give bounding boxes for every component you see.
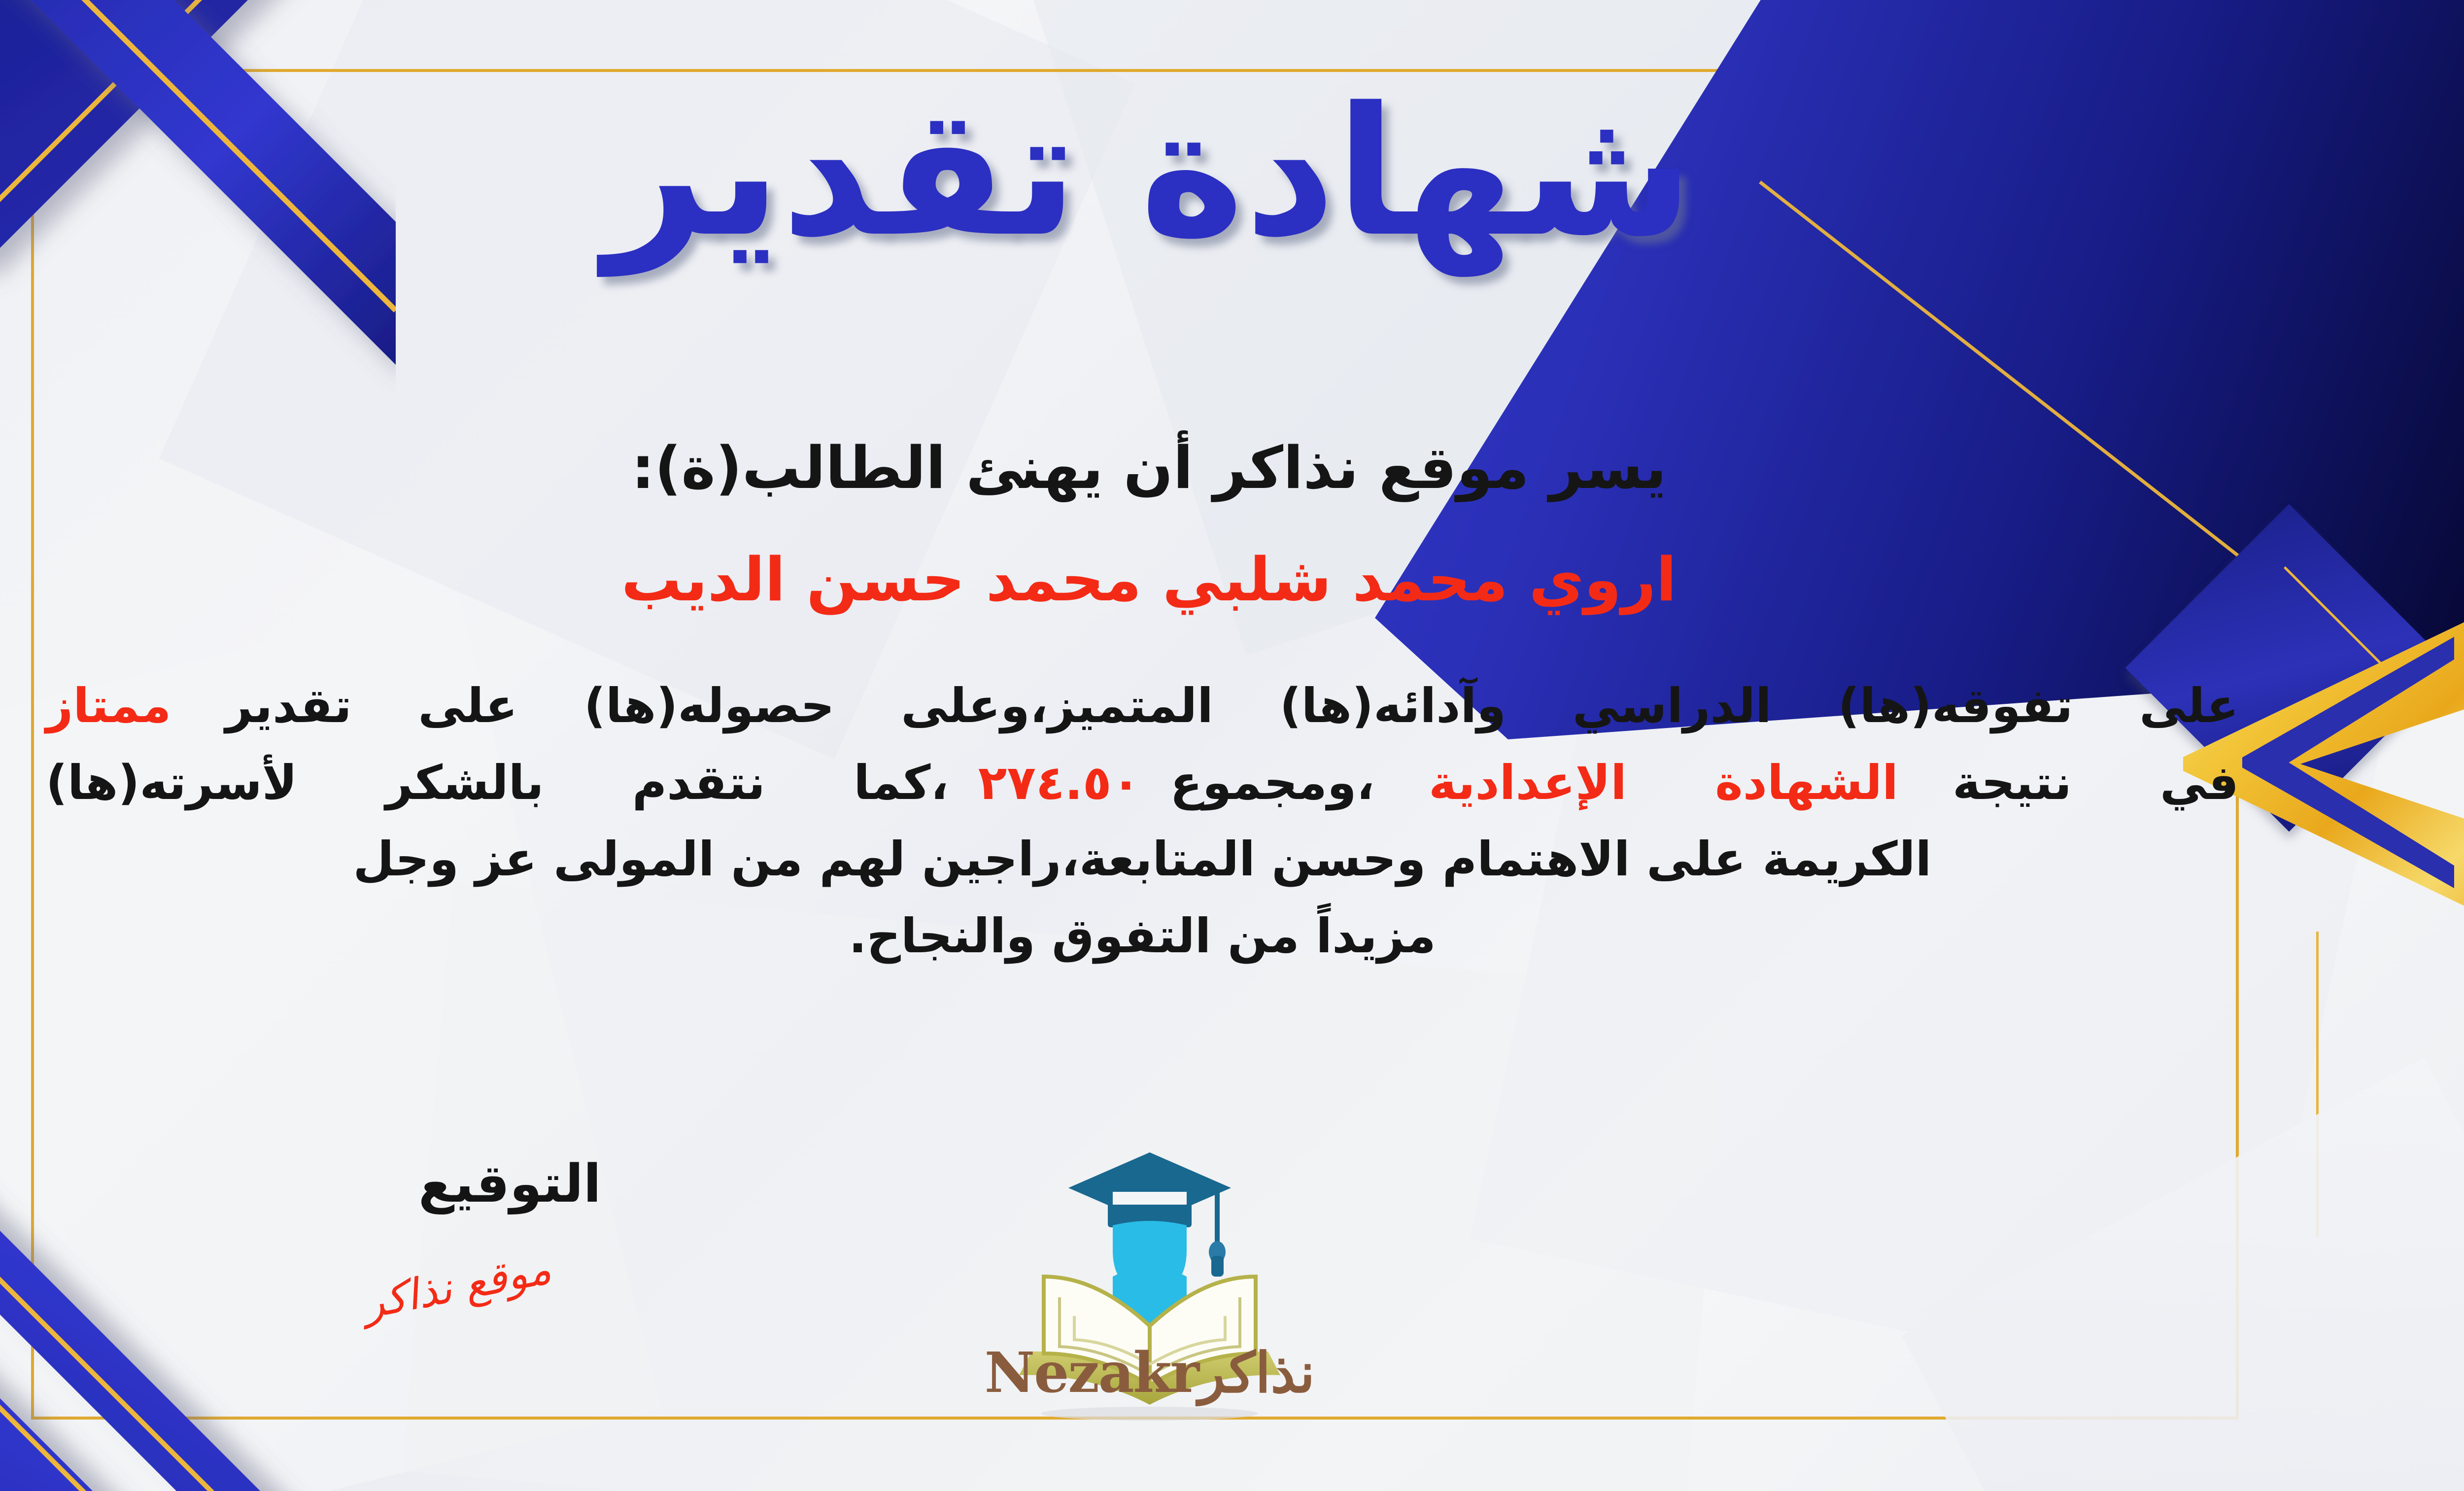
logo-wordmark: نذاكرNezakr [945, 1341, 1354, 1405]
page-title: شهادة تقدير [0, 84, 2464, 261]
body-line-4: في نتيجةالشهادة الإعدادية،ومجموع٢٧٤.٥٠،ك… [46, 745, 2239, 822]
total-score: ٢٧٤.٥٠ [978, 755, 1140, 810]
congratulation-line: يسر موقع نذاكر أن يهنئ الطالب(ة): [0, 434, 2464, 502]
body-line-6: مزيداً من التفوق والنجاح. [46, 898, 2239, 975]
body-line-5: الكريمة على الاهتمام وحسن المتابعة،راجين… [46, 821, 2239, 898]
total-prefix: ،ومجموع [1170, 755, 1374, 810]
signature-label: التوقيع [418, 1153, 601, 1214]
thanks-text: ،كما نتقدم بالشكر لأسرته(ها) [46, 755, 949, 810]
result-prefix: في نتيجة [1952, 755, 2239, 810]
nezakr-logo: نذاكرNezakr [945, 1129, 1354, 1424]
exam-name: الشهادة الإعدادية [1429, 755, 1898, 810]
signature-mark: موقع نذاكر [359, 1244, 555, 1329]
student-name: اروي محمد شلبي محمد حسن الديب [0, 545, 2464, 615]
certificate-body: على تفوقه(ها) الدراسي وآدائه(ها) المتميز… [46, 668, 2239, 974]
body-line-3-text: على تفوقه(ها) الدراسي وآدائه(ها) المتميز… [225, 678, 2239, 733]
certificate-canvas: شهادة تقدير يسر موقع نذاكر أن يهنئ الطال… [0, 0, 2464, 1491]
certificate-content: شهادة تقدير يسر موقع نذاكر أن يهنئ الطال… [0, 0, 2464, 1491]
body-line-3: على تفوقه(ها) الدراسي وآدائه(ها) المتميز… [46, 668, 2239, 745]
grade-value: ممتاز [46, 678, 171, 733]
